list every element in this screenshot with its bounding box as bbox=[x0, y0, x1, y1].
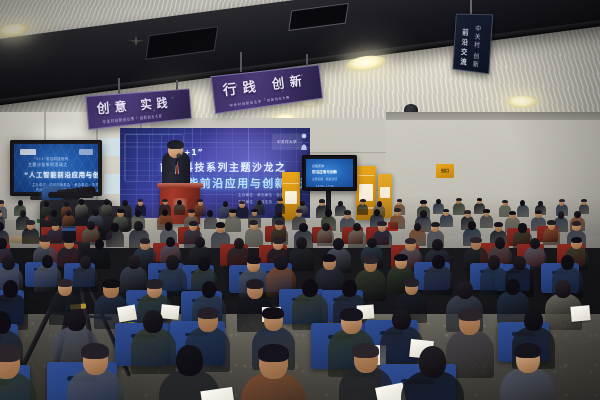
audience-member-torso bbox=[317, 229, 334, 246]
audience-member-torso bbox=[174, 204, 185, 215]
audience-member-torso bbox=[357, 204, 368, 215]
audience-member-torso bbox=[453, 203, 465, 215]
camera-top-handle bbox=[48, 192, 94, 198]
audience-member-head bbox=[87, 221, 95, 230]
audience-member-hair bbox=[405, 238, 417, 245]
audience-member-head bbox=[538, 201, 543, 206]
audience-member-head bbox=[420, 210, 427, 218]
audience-member-hair bbox=[340, 308, 364, 321]
audience-member-hair bbox=[249, 220, 258, 225]
audience-member-head bbox=[0, 238, 7, 249]
audience-member-head bbox=[558, 211, 564, 218]
audience-member-torso bbox=[424, 266, 453, 295]
air-vent-left-icon bbox=[145, 26, 218, 60]
air-vent-right-icon bbox=[288, 3, 349, 31]
banner-vertical-line1: 前沿交流 bbox=[459, 28, 470, 68]
audience-member-hair bbox=[0, 200, 4, 204]
audience-member-head bbox=[276, 210, 282, 217]
audience-member-hair bbox=[394, 208, 401, 212]
audience-member-hair bbox=[502, 200, 508, 203]
audience-member-torso bbox=[131, 328, 176, 373]
audience-member-torso bbox=[480, 215, 493, 228]
audience-member-torso bbox=[543, 228, 560, 245]
audience-member-head bbox=[457, 281, 473, 299]
audience-member-hair bbox=[273, 237, 284, 243]
audience-member-head bbox=[322, 223, 329, 231]
tv-right-line2: 前沿应用与创新 bbox=[312, 170, 337, 175]
audience-member-head bbox=[513, 256, 526, 271]
audience-member-torso bbox=[194, 204, 206, 216]
audience-member-head bbox=[51, 210, 57, 217]
audience-member-head bbox=[300, 201, 305, 206]
audience-member-hair bbox=[140, 238, 151, 244]
audience-member-head bbox=[520, 200, 525, 206]
audience-member-hair bbox=[229, 209, 237, 213]
audience-member-hair bbox=[162, 199, 168, 202]
audience-member-hair bbox=[117, 209, 125, 213]
audience-member-hair bbox=[197, 307, 219, 320]
audience-member-hair bbox=[509, 211, 517, 215]
audience-member-head bbox=[353, 223, 361, 232]
audience-member-head bbox=[198, 257, 210, 270]
wall-monitor-right: 议程安排 前沿应用与创新 主题演讲 · 圆桌对话 14:00 - 17:30 bbox=[302, 155, 357, 191]
audience-member-head bbox=[377, 201, 382, 207]
audience-member-hair bbox=[514, 343, 541, 358]
conference-hall-photo: 创意 实践 中关村创新创业季 · 创新创业大赛 行践 创新 中关村创新创业季 ·… bbox=[0, 0, 600, 400]
audience-member-torso bbox=[348, 230, 366, 248]
tv-left-line2: 主题沙龙系列活动之 bbox=[28, 162, 68, 168]
audience-member-torso bbox=[62, 215, 75, 228]
audience-member-head bbox=[95, 239, 104, 249]
audience-member-head bbox=[166, 255, 179, 270]
audience-member-head bbox=[488, 255, 501, 269]
audience-member-torso bbox=[390, 215, 404, 229]
tv-right-line4: 14:00 - 17:30 bbox=[316, 185, 334, 188]
audience-member-head bbox=[432, 255, 445, 269]
audience-member-hair bbox=[535, 210, 542, 214]
audience-member-hair bbox=[458, 308, 482, 322]
audience-member-hair bbox=[251, 209, 257, 213]
audience-member-torso bbox=[34, 265, 60, 291]
handout-paper bbox=[570, 305, 590, 322]
wall-monitor-right-screen: 议程安排 前沿应用与创新 主题演讲 · 圆桌对话 14:00 - 17:30 bbox=[306, 159, 353, 187]
audience-member-hair bbox=[344, 210, 351, 214]
audience-member-hair bbox=[547, 220, 556, 225]
audience-member-hair bbox=[258, 344, 290, 362]
audience-member-head bbox=[122, 200, 127, 206]
monitor-left-logo-right bbox=[79, 149, 93, 155]
audience-member-head bbox=[274, 255, 287, 270]
audience-member-head bbox=[143, 310, 163, 333]
handout-paper bbox=[161, 305, 180, 321]
audience-member-head bbox=[374, 209, 380, 216]
audience-member-head bbox=[165, 222, 172, 230]
audience-member-head bbox=[518, 223, 526, 232]
audience-member-hair bbox=[420, 200, 426, 204]
audience-member-head bbox=[495, 237, 506, 249]
audience-member-hair bbox=[572, 221, 581, 226]
audience-member-hair bbox=[81, 343, 109, 359]
audience-member-hair bbox=[404, 278, 419, 287]
monitor-left-logo-left bbox=[20, 149, 36, 155]
audience-member-hair bbox=[296, 209, 303, 213]
audience-member-head bbox=[135, 210, 141, 217]
tv-left-line1: “1+1”前沿科技系列 bbox=[34, 156, 68, 161]
tv-right-line1: 议程安排 bbox=[312, 164, 324, 168]
audience-member-head bbox=[2, 255, 15, 270]
banner-vertical-line2: 中关村 创新 bbox=[470, 25, 481, 70]
audience-member-hair bbox=[63, 236, 75, 243]
audience-member-head bbox=[367, 238, 376, 249]
audience-member-head bbox=[302, 279, 318, 297]
audience-member-head bbox=[177, 200, 182, 205]
speaker-hair bbox=[167, 140, 184, 149]
audience-member-hair bbox=[275, 220, 284, 225]
audience-member-head bbox=[128, 255, 140, 269]
monitor-left-screen: “1+1”前沿科技系列 主题沙龙系列活动之 “人工智能前沿应用与创新机遇” 主办… bbox=[14, 144, 98, 192]
audience-member-head bbox=[392, 309, 411, 331]
audience-member-hair bbox=[39, 235, 51, 242]
audience-member-head bbox=[419, 346, 447, 377]
audience-member-hair bbox=[188, 209, 195, 213]
backdrop-logo-text: 中关村大学 bbox=[277, 140, 297, 145]
audience-member-head bbox=[257, 200, 262, 205]
tv-left-line3: “人工智能前沿应用与创新机遇” bbox=[24, 169, 98, 179]
audience-member-head bbox=[80, 256, 91, 269]
audience-member-torso bbox=[101, 204, 113, 216]
audience-member-head bbox=[20, 210, 26, 217]
audience-member-hair bbox=[456, 198, 462, 201]
audience-member-head bbox=[64, 201, 69, 207]
audience-member-head bbox=[207, 210, 213, 217]
audience-member-hair bbox=[322, 254, 336, 262]
audience-member-hair bbox=[363, 255, 378, 264]
person-silhouette-icon bbox=[300, 133, 308, 151]
audience-member-head bbox=[42, 255, 54, 268]
audience-member-head bbox=[524, 310, 543, 331]
audience-member-hair bbox=[464, 210, 471, 214]
audience-member-hair bbox=[262, 307, 283, 319]
banner-right-rod bbox=[240, 52, 242, 72]
audience-member-torso bbox=[106, 230, 123, 247]
audience-member-hair bbox=[431, 222, 440, 227]
audience-member-hair bbox=[57, 279, 73, 288]
audience-member-hair bbox=[470, 237, 482, 244]
audience-member-hair bbox=[102, 279, 119, 289]
audience-member-hair bbox=[277, 198, 282, 201]
audience-member-head bbox=[134, 221, 143, 231]
audience-member-hair bbox=[483, 209, 489, 213]
audience-member-torso bbox=[73, 266, 98, 291]
tv-right-line3: 主题演讲 · 圆桌对话 bbox=[312, 177, 337, 181]
audience-member-head bbox=[555, 280, 571, 298]
audience-member-head bbox=[104, 199, 109, 205]
downlight-5-icon bbox=[506, 96, 538, 108]
audience-member-head bbox=[342, 280, 357, 297]
audience-member-torso bbox=[22, 228, 38, 244]
audience-member-head bbox=[574, 211, 581, 218]
audience-member-head bbox=[92, 209, 99, 216]
audience-member-head bbox=[299, 223, 307, 233]
audience-member-torso bbox=[433, 203, 444, 214]
hanging-banner-vertical: 前沿交流 中关村 创新 bbox=[452, 14, 493, 75]
audience-member-head bbox=[561, 255, 575, 271]
audience-member-hair bbox=[559, 199, 565, 202]
audience-member-hair bbox=[319, 199, 325, 203]
audience-member-hair bbox=[443, 209, 449, 213]
audience-member-hair bbox=[352, 343, 379, 358]
audience-member-hair bbox=[377, 221, 386, 226]
audience-member-torso bbox=[75, 204, 88, 217]
audience-member-head bbox=[44, 201, 49, 207]
audience-member-head bbox=[432, 239, 443, 251]
audience-member-torso bbox=[289, 247, 314, 272]
audience-member-head bbox=[468, 221, 476, 230]
handout-paper bbox=[117, 304, 137, 321]
audience-member-head bbox=[176, 345, 203, 375]
audience-member-hair bbox=[26, 220, 34, 225]
audience-member-hair bbox=[189, 221, 198, 226]
audience-member-torso bbox=[517, 205, 529, 217]
audience-member-head bbox=[333, 238, 344, 250]
audience-member-torso bbox=[480, 267, 508, 295]
exit-sign-text: 出口 bbox=[441, 168, 449, 174]
audience-member-head bbox=[325, 209, 332, 217]
audience-member-head bbox=[202, 281, 217, 298]
audience-member-hair bbox=[494, 222, 503, 227]
audience-member-head bbox=[111, 223, 119, 232]
audience-member-head bbox=[506, 279, 520, 295]
audience-member-hair bbox=[571, 237, 582, 243]
audience-member-head bbox=[3, 280, 19, 298]
banner-left-rod bbox=[118, 78, 120, 94]
audience-member-torso bbox=[440, 214, 453, 227]
backdrop-logo: 中关村大学 bbox=[272, 134, 302, 150]
audience-member-hair bbox=[247, 256, 261, 264]
audience-member-hair bbox=[581, 199, 586, 202]
audience-member-head bbox=[296, 237, 307, 249]
audience-member-hair bbox=[246, 279, 264, 289]
audience-member-torso bbox=[204, 216, 217, 229]
audience-member-head bbox=[79, 199, 85, 205]
audience-member-hair bbox=[394, 254, 408, 262]
podium-top bbox=[157, 183, 203, 188]
audience-member-head bbox=[195, 237, 205, 248]
audience-member-torso bbox=[225, 216, 241, 232]
audience-member-hair bbox=[146, 279, 163, 289]
audience-member-hair bbox=[360, 199, 365, 202]
audience-member-head bbox=[66, 309, 86, 331]
audience-member-head bbox=[18, 200, 23, 206]
audience-member-head bbox=[234, 238, 244, 250]
exit-sign: 出口 bbox=[436, 164, 454, 178]
audience-member-hair bbox=[216, 222, 226, 227]
